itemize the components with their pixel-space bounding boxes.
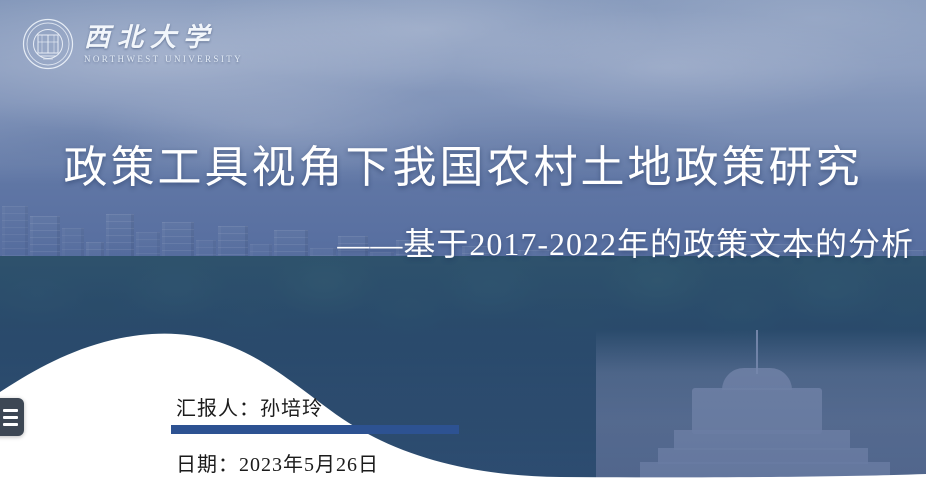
hamburger-menu-icon[interactable] — [0, 398, 24, 436]
university-name-cn: 西北大学 — [84, 25, 216, 51]
presentation-title-slide: 西北大学 NORTHWEST UNIVERSITY 政策工具视角下我国农村土地政… — [0, 0, 926, 483]
university-logo: 西北大学 NORTHWEST UNIVERSITY — [22, 18, 243, 70]
slide-main-title: 政策工具视角下我国农村土地政策研究 — [0, 131, 926, 195]
university-name-en: NORTHWEST UNIVERSITY — [84, 55, 243, 64]
accent-divider — [171, 425, 459, 434]
hamburger-bar — [3, 409, 18, 412]
slide-subtitle: ——基于2017-2022年的政策文本的分析 — [337, 219, 914, 265]
hamburger-bar — [3, 423, 18, 426]
presentation-date: 日期：2023年5月26日 — [176, 448, 379, 477]
hamburger-bar — [3, 416, 18, 419]
presenter-name: 汇报人：孙培玲 — [176, 392, 323, 421]
northwest-university-seal-icon — [22, 18, 74, 70]
